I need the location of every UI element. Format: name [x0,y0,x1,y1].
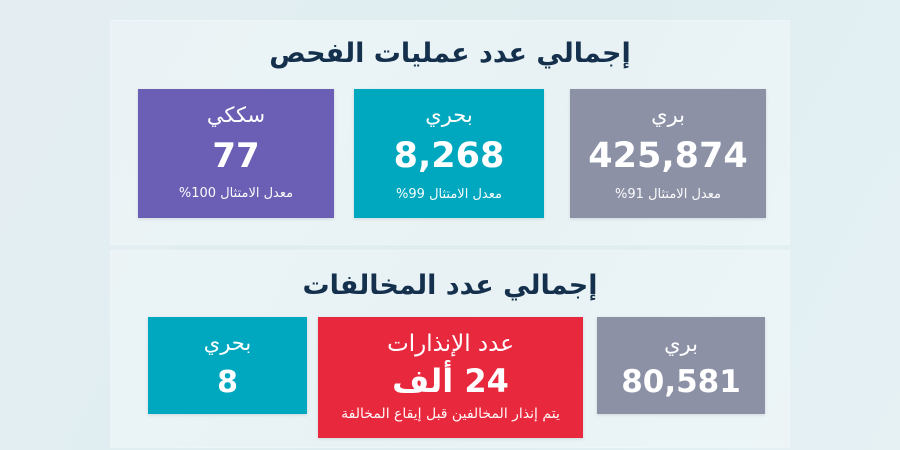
stat-card-note: معدل الامتثال 100% [179,186,293,202]
stat-card-label: بحري [204,333,251,354]
inspections-section-title: إجمالي عدد عمليات الفحص [110,38,790,69]
stat-card-label: بحري [425,105,472,126]
stat-card-value: 8,268 [394,139,505,174]
stat-card-label: سككي [207,105,265,126]
stat-card-label: بري [664,334,698,355]
stat-card-violations-warnings: عدد الإنذارات 24 ألف يتم إنذار المخالفين… [318,317,583,438]
violations-section-title: إجمالي عدد المخالفات [110,270,790,301]
stat-card-note: معدل الامتثال 99% [396,187,502,203]
infographic-stage: إجمالي عدد عمليات الفحص سككي 77 معدل الا… [0,0,900,450]
stat-card-value: 425,874 [588,139,747,174]
stat-card-inspections-sea: بحري 8,268 معدل الامتثال 99% [354,89,544,218]
stat-card-violations-land: بري 80,581 [597,317,765,414]
stat-card-note: معدل الامتثال 91% [615,187,721,203]
stat-card-value: 8 [217,368,238,398]
stat-card-violations-sea: بحري 8 [148,317,307,414]
stat-card-note: يتم إنذار المخالفين قبل إيقاع المخالفة [341,406,560,423]
stat-card-label: عدد الإنذارات [387,333,514,356]
stat-card-value: 24 ألف [392,365,509,397]
stat-card-inspections-land: بري 425,874 معدل الامتثال 91% [570,89,766,218]
stat-card-value: 80,581 [621,367,741,398]
stat-card-label: بري [651,105,685,126]
stat-card-inspections-rail: سككي 77 معدل الامتثال 100% [138,89,334,218]
stat-card-value: 77 [212,139,259,173]
